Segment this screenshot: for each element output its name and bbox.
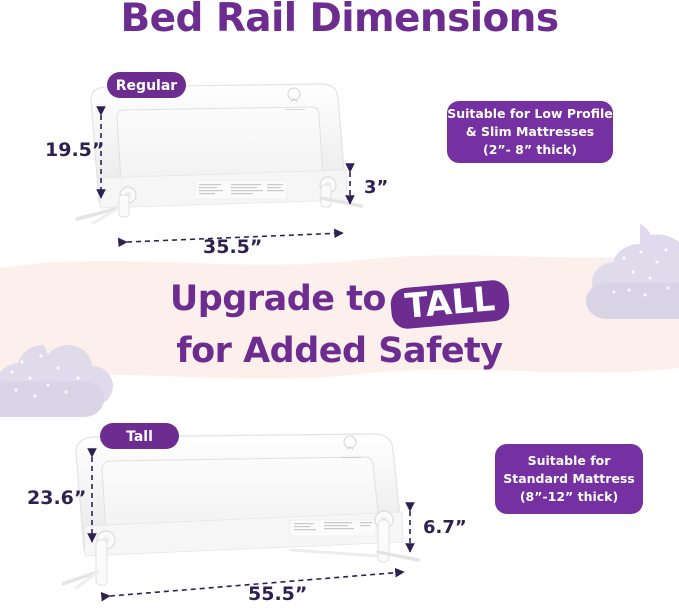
callout-regular-line2: & Slim Mattresses: [466, 123, 594, 141]
dimension-regular-width: 35.5”: [203, 236, 262, 258]
upgrade-line1: Upgrade toTALL: [0, 282, 679, 325]
dimension-tall-height: 23.6”: [27, 487, 86, 509]
dimension-tall-leg: 6.7”: [423, 517, 467, 538]
bed-rail-regular-image: [75, 82, 365, 227]
upgrade-heading: Upgrade toTALL for Added Safety: [0, 282, 679, 369]
page-title: Bed Rail Dimensions: [0, 0, 679, 40]
upgrade-line1-text: Upgrade to: [170, 279, 386, 319]
callout-regular: Suitable for Low Profile & Slim Mattress…: [447, 101, 613, 163]
infographic-canvas: Bed Rail Dimensions Regular Tall Suitabl…: [0, 0, 679, 609]
dimension-regular-height: 19.5”: [45, 139, 104, 161]
badge-tall: Tall: [100, 423, 179, 449]
callout-regular-line3: (2”- 8” thick): [483, 141, 577, 159]
callout-tall-line3: (8”-12” thick): [520, 488, 618, 506]
badge-tall-heading: TALL: [389, 279, 510, 330]
callout-tall-line1: Suitable for: [528, 452, 611, 470]
dimension-regular-leg: 3”: [364, 177, 388, 198]
badge-regular: Regular: [107, 72, 186, 98]
upgrade-line2: for Added Safety: [0, 334, 679, 369]
callout-tall: Suitable for Standard Mattress (8”-12” t…: [495, 444, 643, 514]
callout-tall-line2: Standard Mattress: [503, 470, 635, 488]
callout-regular-line1: Suitable for Low Profile: [447, 105, 613, 123]
dimension-tall-width: 55.5”: [248, 583, 307, 605]
bed-rail-tall-image: [62, 432, 422, 592]
